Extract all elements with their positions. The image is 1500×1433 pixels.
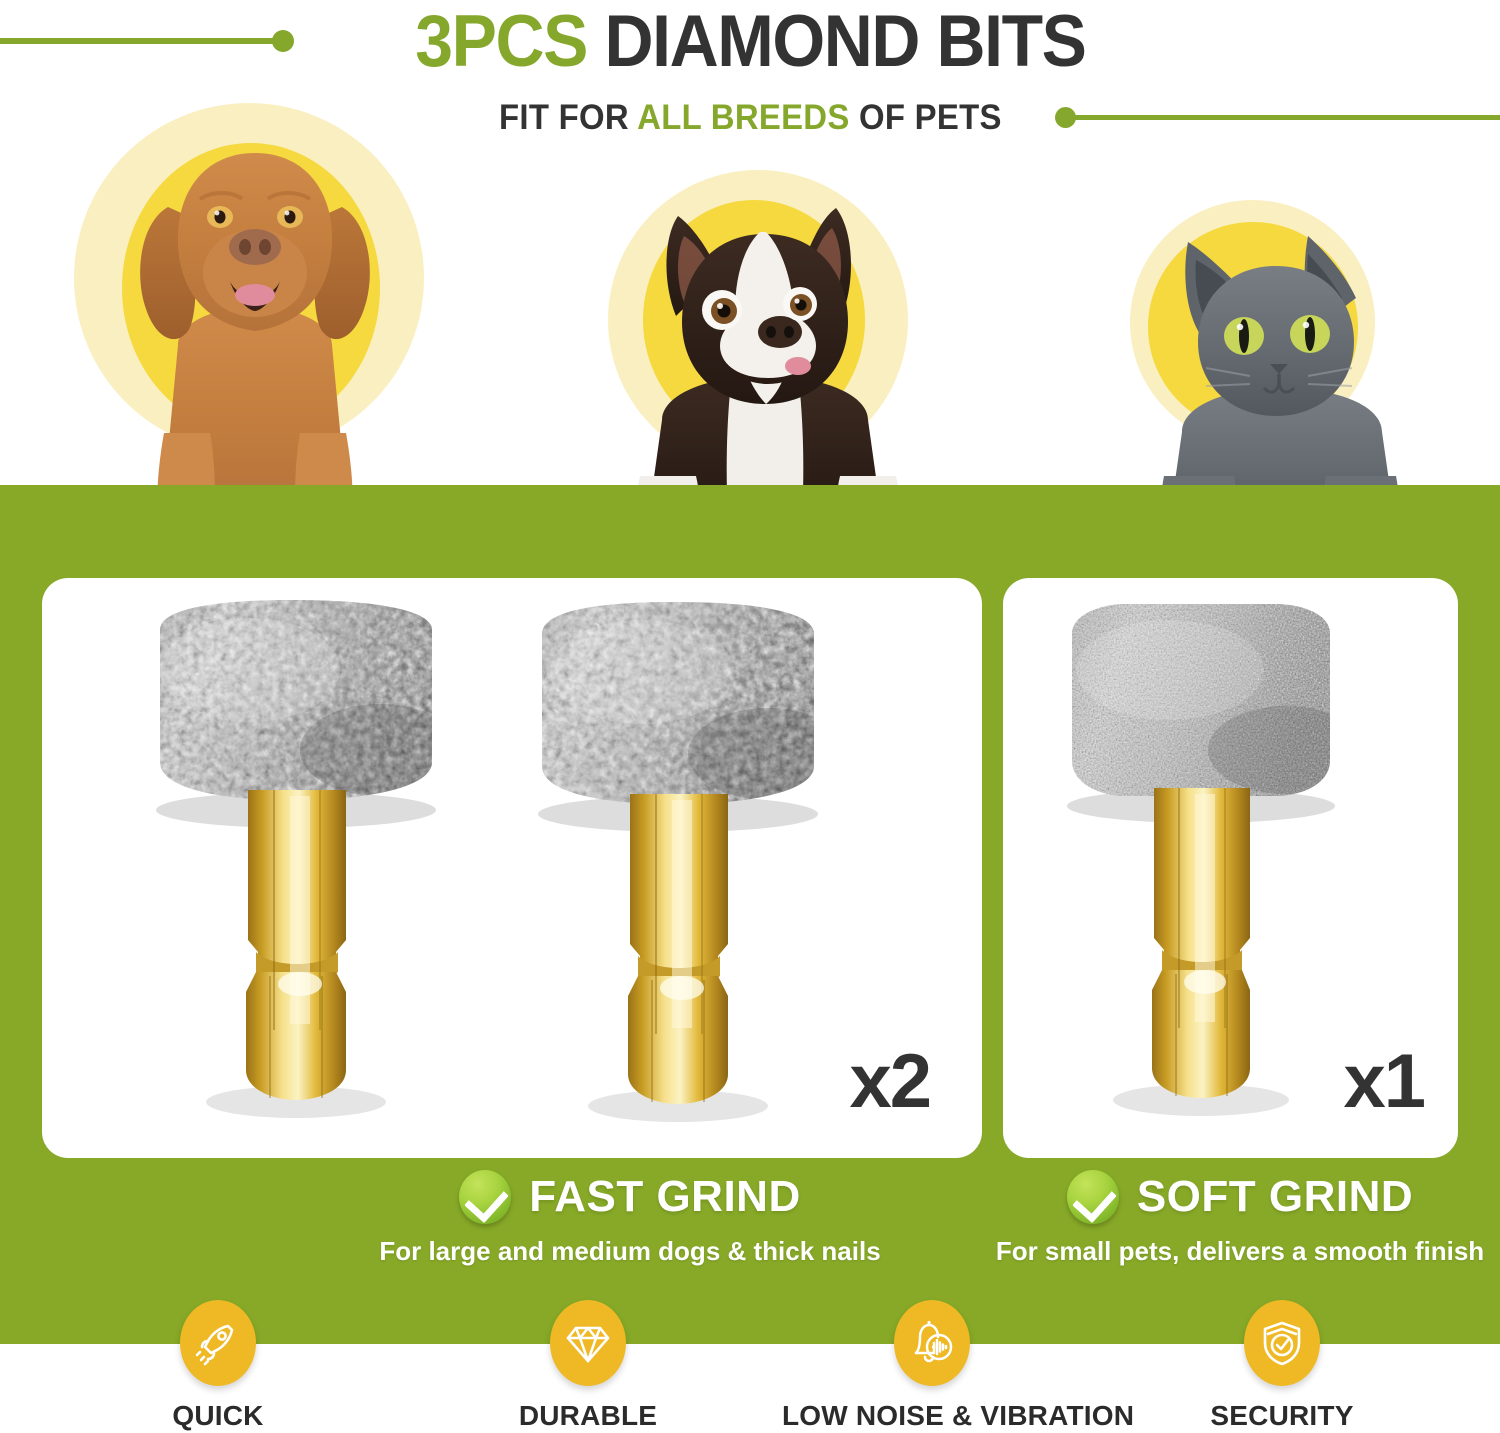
benefits-row: QUICK DURABLE — [0, 1300, 1500, 1433]
benefit-label-durable: DURABLE — [438, 1400, 738, 1432]
feature-labels: FAST GRIND For large and medium dogs & t… — [0, 1166, 1500, 1281]
shield-check-icon-badge — [1244, 1300, 1320, 1386]
fast-grind-panel: x2 — [42, 578, 982, 1158]
feature-fast-grind: FAST GRIND For large and medium dogs & t… — [250, 1166, 1010, 1267]
benefit-durable: DURABLE — [438, 1300, 738, 1432]
page-title: 3PCS DIAMOND BITS — [0, 2, 1500, 80]
pets-strip — [0, 95, 1500, 495]
pet-vizsla-dog — [60, 95, 450, 515]
russian-blue-cat-illustration — [1130, 200, 1450, 530]
benefit-quick: QUICK — [68, 1300, 368, 1432]
benefit-low-noise: LOW NOISE & VIBRATION — [782, 1300, 1082, 1432]
feature-soft-grind: SOFT GRIND For small pets, delivers a sm… — [980, 1166, 1500, 1267]
coarse-diamond-bit-2 — [532, 600, 862, 1145]
feature-title-soft-grind: SOFT GRIND — [1137, 1172, 1413, 1222]
benefit-label-quick: QUICK — [68, 1400, 368, 1432]
feature-subtitle-fast-grind: For large and medium dogs & thick nails — [250, 1236, 1010, 1267]
green-check-circle-icon — [459, 1170, 511, 1224]
coarse-diamond-bit-1 — [150, 600, 480, 1145]
quantity-badge-x1: x1 — [1343, 1044, 1424, 1120]
bell-soundwave-icon-badge — [894, 1300, 970, 1386]
rocket-icon — [195, 1320, 241, 1366]
feature-title-fast-grind: FAST GRIND — [529, 1172, 800, 1222]
coarse-bit-illustration — [150, 600, 480, 1145]
coarse-bit-illustration — [532, 600, 862, 1145]
benefit-label-low-noise: LOW NOISE & VIBRATION — [782, 1400, 1082, 1432]
benefit-security: SECURITY — [1132, 1300, 1432, 1432]
soft-grind-panel: x1 — [1003, 578, 1458, 1158]
bell-soundwave-icon — [908, 1319, 956, 1367]
product-panels: x2 — [0, 578, 1500, 1158]
infographic-root: 3PCS DIAMOND BITS FIT FOR ALL BREEDS OF … — [0, 0, 1500, 1433]
fine-diamond-bit-1 — [1058, 600, 1388, 1145]
green-check-circle-icon — [1067, 1170, 1119, 1224]
diamond-icon-badge — [550, 1300, 626, 1386]
fine-bit-illustration — [1058, 600, 1388, 1145]
vizsla-dog-illustration — [60, 95, 450, 515]
shield-check-icon — [1260, 1319, 1304, 1367]
feature-subtitle-soft-grind: For small pets, delivers a smooth finish — [980, 1236, 1500, 1267]
pet-boston-terrier-dog — [600, 170, 930, 520]
pet-russian-blue-cat — [1130, 200, 1450, 530]
benefit-label-security: SECURITY — [1132, 1400, 1432, 1432]
diamond-icon — [565, 1320, 611, 1366]
title-prefix: 3PCS — [415, 1, 587, 82]
quantity-badge-x2: x2 — [849, 1044, 930, 1120]
title-rest: DIAMOND BITS — [587, 1, 1086, 82]
rocket-icon-badge — [180, 1300, 256, 1386]
boston-terrier-illustration — [600, 170, 930, 520]
